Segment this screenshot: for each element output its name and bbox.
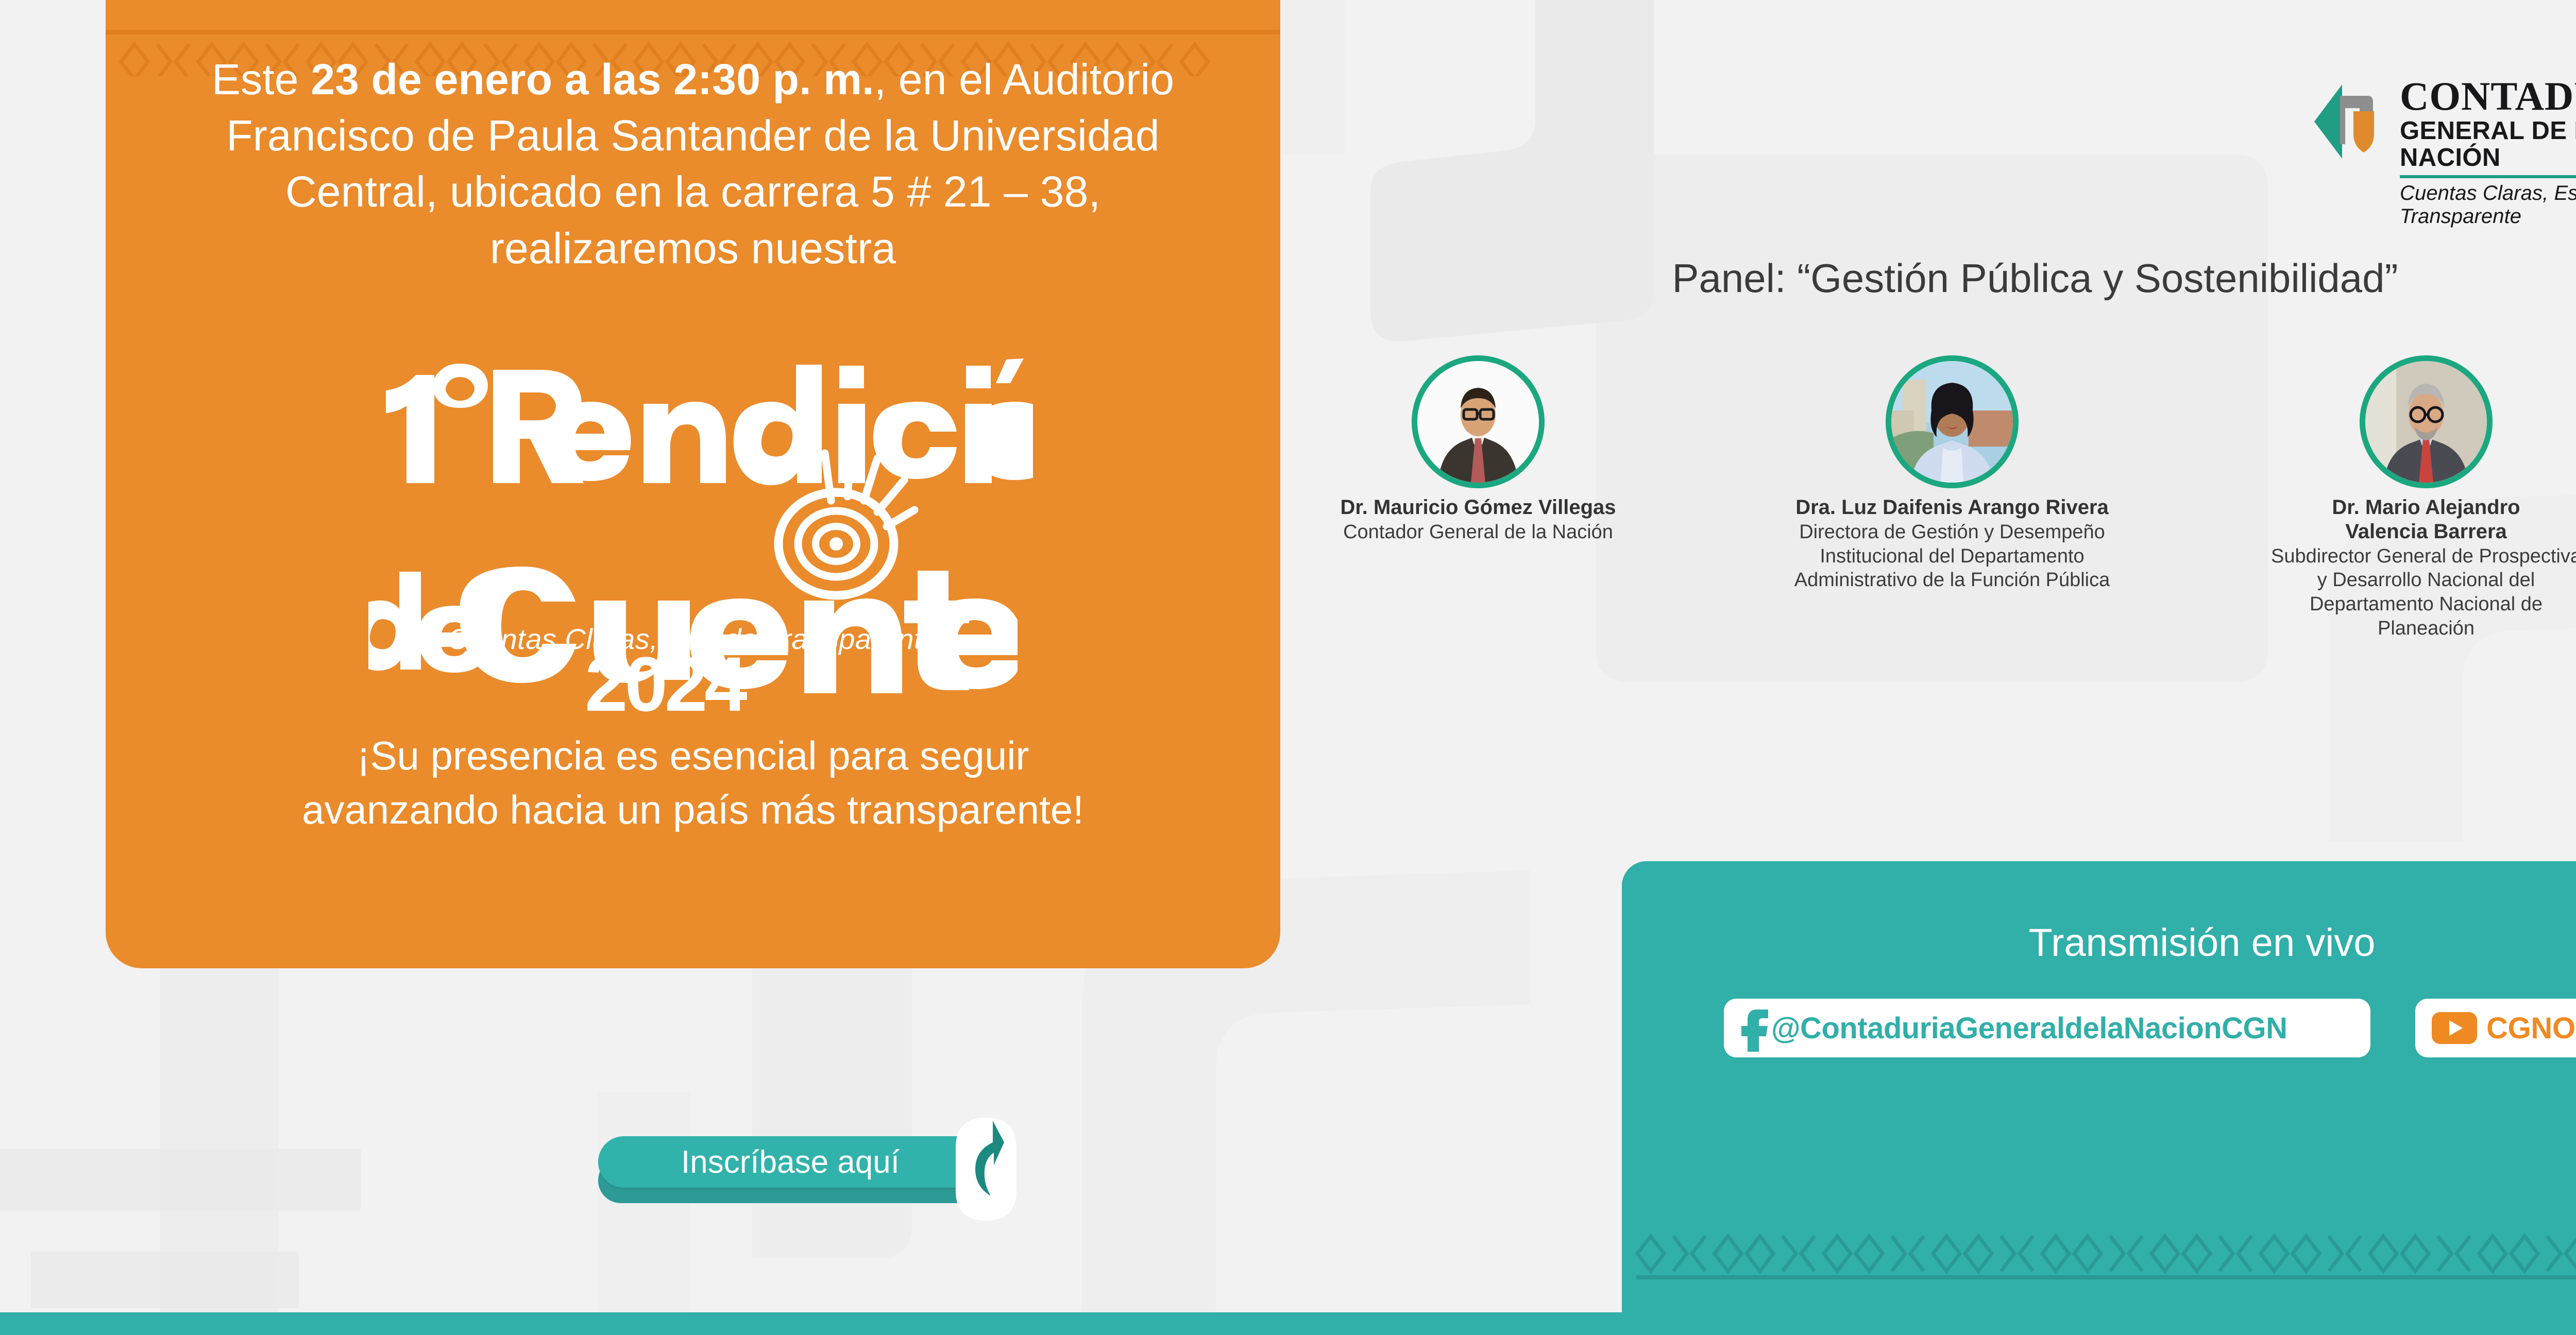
bottom-accent-strip bbox=[0, 1312, 1622, 1335]
speaker-role-3-line-1: Subdirector General de Prospectiva bbox=[2266, 545, 2576, 568]
brand-logo-text: CONTADURÍA GENERAL DE LA NACIÓN Cuentas … bbox=[2400, 77, 2576, 228]
facebook-channel-chip[interactable]: @ContaduriaGeneraldelaNacionCGN bbox=[1724, 999, 2370, 1057]
portrait-mauricio-gomez bbox=[1417, 361, 1539, 483]
avatar bbox=[1886, 355, 2019, 488]
facebook-handle[interactable]: @ContaduriaGeneraldelaNacionCGN bbox=[1771, 1011, 2287, 1046]
speaker-name-3-line-2: Valencia Barrera bbox=[2266, 520, 2576, 544]
cgn-arrow-mark-icon bbox=[2313, 80, 2391, 163]
speaker-name-1: Dr. Mauricio Gómez Villegas bbox=[1318, 495, 1638, 520]
youtube-handle[interactable]: CGNOficial bbox=[2486, 1011, 2576, 1046]
subscribe-button-label[interactable]: Inscríbase aquí bbox=[598, 1136, 982, 1188]
live-stream-panel: Transmisión en vivo @ContaduriaGeneralde… bbox=[1622, 861, 2576, 1335]
speaker-caption-3: Dr. Mario Alejandro Valencia Barrera Sub… bbox=[2266, 495, 2576, 640]
brand-logo-rule bbox=[2400, 175, 2576, 178]
brand-logo-tagline: Cuentas Claras, Estado Transparente bbox=[2400, 182, 2576, 228]
brand-logo: CONTADURÍA GENERAL DE LA NACIÓN Cuentas … bbox=[2313, 77, 2576, 185]
speaker-role-1-line-1: Contador General de la Nación bbox=[1318, 521, 1638, 544]
poster-canvas: Este 23 de enero a las 2:30 p. m., en el… bbox=[0, 0, 2576, 1335]
subscribe-button[interactable]: Inscríbase aquí bbox=[584, 1118, 1011, 1221]
speakers-list: Dr. Mauricio Gómez Villegas Contador Gen… bbox=[1319, 355, 2576, 675]
speaker-role-2-line-3: Administrativo de la Función Pública bbox=[1792, 569, 2112, 592]
facebook-icon[interactable] bbox=[1738, 1004, 1768, 1052]
speaker-name-2: Dra. Luz Daifenis Arango Rivera bbox=[1792, 495, 2112, 520]
speaker-role-2-line-1: Directora de Gestión y Desempeño bbox=[1792, 521, 2112, 544]
brand-logo-line2: GENERAL DE LA NACIÓN bbox=[2400, 118, 2576, 172]
speaker-role-3-line-2: y Desarrollo Nacional del bbox=[2266, 569, 2576, 592]
speaker-caption-2: Dra. Luz Daifenis Arango Rivera Director… bbox=[1792, 495, 2112, 592]
speaker-role-2-line-2: Institucional del Departamento bbox=[1792, 545, 2112, 568]
headline-part-2-bold: 23 de enero a las 2:30 p. m. bbox=[311, 55, 874, 104]
avatar bbox=[2360, 355, 2493, 488]
live-stream-title: Transmisión en vivo bbox=[1622, 920, 2576, 965]
panel-title: Panel: “Gestión Pública y Sostenibilidad… bbox=[1520, 255, 2550, 302]
brand-logo-line1: CONTADURÍA bbox=[2400, 77, 2576, 116]
youtube-channel-chip[interactable]: CGNOficial bbox=[2415, 999, 2576, 1057]
invitation-call-to-action: ¡Su presencia es esencial para seguir av… bbox=[162, 729, 1224, 836]
diamond-pattern-band-teal bbox=[1622, 1228, 2576, 1279]
invitation-card: Este 23 de enero a las 2:30 p. m., en el… bbox=[106, 0, 1280, 968]
portrait-mario-valencia bbox=[2365, 361, 2487, 483]
speaker-role-3-line-4: Planeación bbox=[2266, 617, 2576, 640]
headline-part-1: Este bbox=[212, 55, 311, 104]
cta-line-2: avanzando hacia un país más transparente… bbox=[162, 783, 1224, 837]
event-logo-art bbox=[353, 330, 1033, 597]
speaker-name-3-line-1: Dr. Mario Alejandro bbox=[2266, 495, 2576, 520]
youtube-icon[interactable] bbox=[2431, 1011, 2478, 1045]
curved-arrow-icon[interactable] bbox=[956, 1118, 1016, 1221]
invitation-headline: Este 23 de enero a las 2:30 p. m., en el… bbox=[162, 52, 1224, 277]
speaker-role-3-line-3: Departamento Nacional de bbox=[2266, 593, 2576, 616]
portrait-luz-arango bbox=[1891, 361, 2013, 483]
speaker-caption-1: Dr. Mauricio Gómez Villegas Contador Gen… bbox=[1318, 495, 1638, 544]
avatar bbox=[1412, 355, 1545, 488]
cta-line-1: ¡Su presencia es esencial para seguir bbox=[162, 729, 1224, 783]
event-logo-tagline: Cuentas Claras, Estado Transparente bbox=[162, 622, 1224, 656]
event-logo: 2024 Cuenta bbox=[162, 330, 1224, 656]
